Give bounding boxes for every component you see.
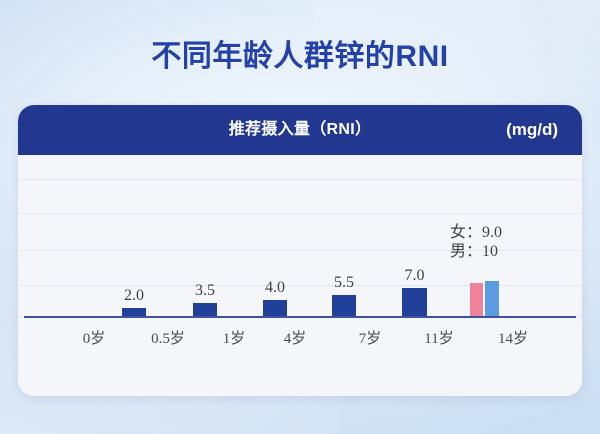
chart-bar[interactable] [122,308,146,316]
chart-x-tick-label: 0.5岁 [151,327,185,348]
chart-bar-value-label: 2.0 [104,287,164,305]
chart-gender-annotation-line: 男：10 [450,242,502,261]
chart-x-tick-label: 0岁 [83,327,106,348]
chart-bar[interactable] [402,288,427,316]
chart-gender-annotation: 女：9.0男：10 [450,223,502,261]
chart-card-header-unit: (mg/d) [506,105,558,155]
chart-bar[interactable] [470,283,483,316]
chart-bar[interactable] [332,295,356,316]
chart-bar-value-label: 5.5 [314,274,374,292]
chart-x-tick-label: 4岁 [284,327,307,348]
poster-canvas: 不同年龄人群锌的RNI 推荐摄入量（RNI） (mg/d) 2.03.54.05… [0,0,600,434]
chart-x-tick-label: 1岁 [223,327,246,348]
chart-x-tick-label: 7岁 [359,327,382,348]
chart-bar-value-label: 3.5 [175,282,235,300]
chart-bar-value-label: 7.0 [385,267,445,285]
chart-bar[interactable] [263,300,287,316]
bar-chart-plot-area: 2.03.54.05.57.0女：9.0男：100岁0.5岁1岁4岁7岁11岁1… [18,155,582,396]
chart-x-tick-label: 14岁 [498,327,528,348]
page-title: 不同年龄人群锌的RNI [0,31,600,75]
chart-gridline [18,213,582,214]
chart-x-tick-label: 11岁 [424,327,453,348]
chart-bar[interactable] [485,281,499,316]
chart-card-header-title: 推荐摄入量（RNI） [18,105,582,155]
chart-x-axis-line [24,316,576,318]
chart-card: 推荐摄入量（RNI） (mg/d) 2.03.54.05.57.0女：9.0男：… [18,105,582,396]
chart-gridline [18,179,582,180]
chart-gender-annotation-line: 女：9.0 [450,223,502,242]
chart-card-header: 推荐摄入量（RNI） (mg/d) [18,105,582,155]
chart-bar-value-label: 4.0 [245,279,305,297]
chart-bar[interactable] [193,303,217,316]
